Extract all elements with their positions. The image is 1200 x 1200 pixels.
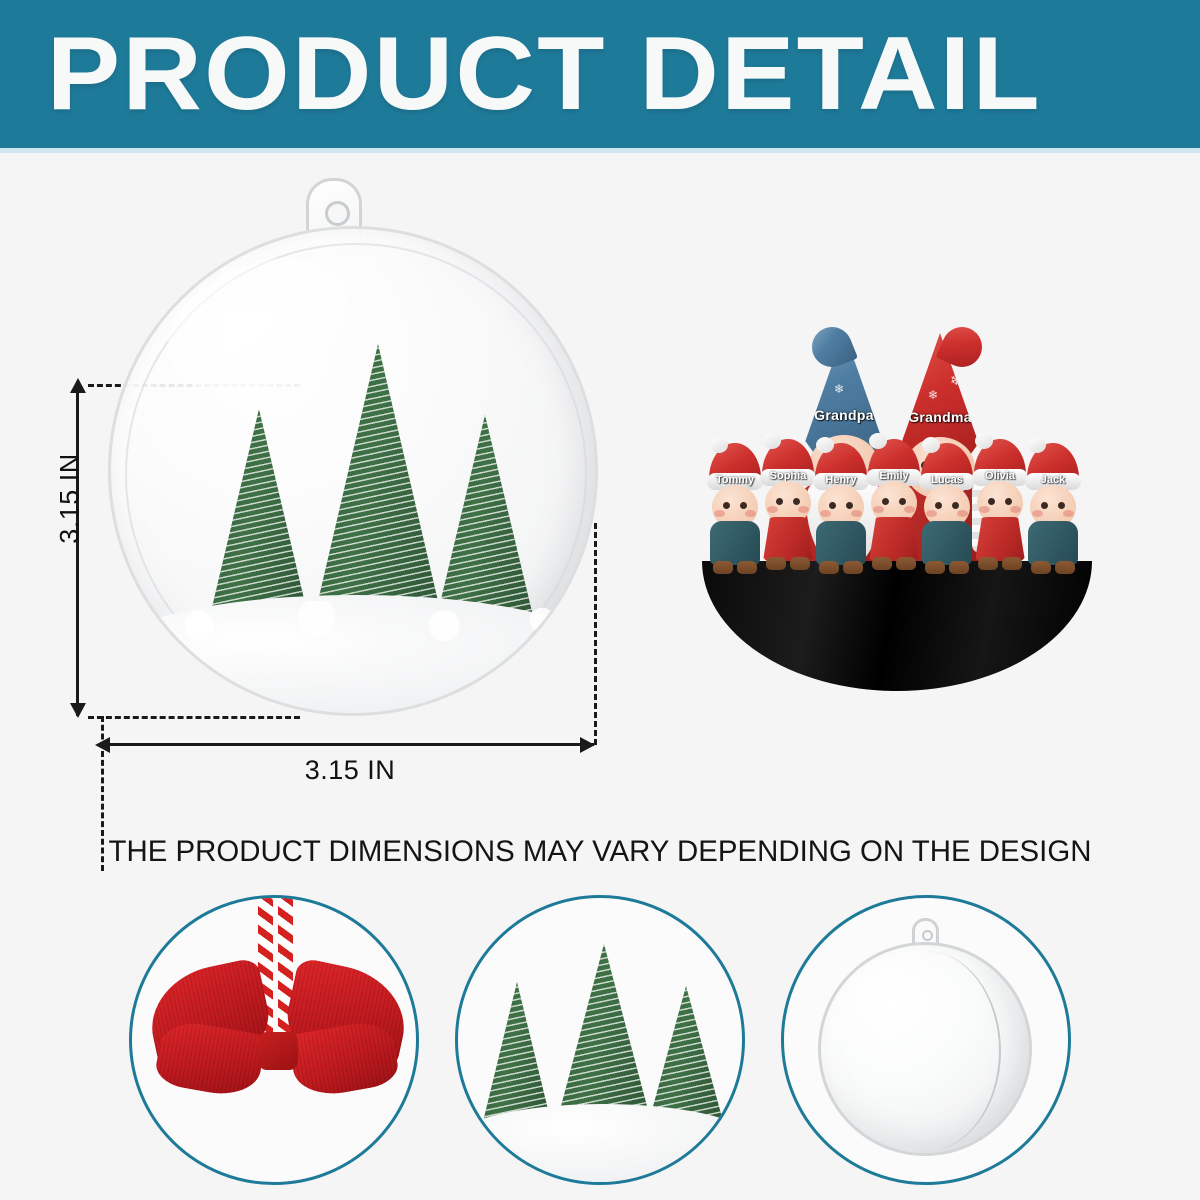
thumbnail-red-ribbon-bow[interactable] <box>129 895 419 1185</box>
gnome-child-shoe <box>737 561 757 574</box>
gnome-child-pompom <box>1028 437 1046 453</box>
gnome-child-pompom <box>922 437 940 453</box>
gnome-child-shoe <box>896 557 916 570</box>
arrow-right-icon <box>580 737 595 753</box>
width-dimension-label: 3.15 IN <box>210 755 490 786</box>
gnome-child-body <box>922 521 972 565</box>
gnome-child-shoe <box>872 557 892 570</box>
gnome-child-shoe <box>1055 561 1075 574</box>
gnome-child-shoe <box>819 561 839 574</box>
snow-layer <box>111 595 598 713</box>
gnome-child-pompom <box>869 433 887 449</box>
gnome-child-pompom <box>763 433 781 449</box>
product-stage: 3.15 IN 3.15 IN <box>0 153 1200 1200</box>
gnome-child-emily: Emily <box>865 439 923 571</box>
arrow-left-icon <box>95 737 110 753</box>
gnome-child-shoe <box>766 557 786 570</box>
gnome-child-pompom <box>816 437 834 453</box>
gnome-child-jack: Jack <box>1024 443 1082 575</box>
gnome-child-shoe <box>843 561 863 574</box>
thumbnail-empty-clear-ball[interactable] <box>781 895 1071 1185</box>
gnome-child-body <box>710 521 760 565</box>
ball-seam-line <box>851 951 1001 1151</box>
gnome-name-grandma: Grandma <box>894 409 986 425</box>
gnome-child-shoe <box>713 561 733 574</box>
hanging-loop-hole <box>325 201 350 226</box>
gnome-child-tommy: Tommy <box>706 443 764 575</box>
glass-sphere <box>108 226 598 716</box>
gnome-child-shoe <box>978 557 998 570</box>
ornament-base <box>702 561 1092 691</box>
gnome-child-olivia: Olivia <box>971 439 1029 571</box>
gnome-child-pompom <box>710 437 728 453</box>
gnome-family-ornament: ❄ ❄ ❄ Grandpa ❄ ❄ ❄ Grandma <box>690 303 1100 703</box>
arrow-down-icon <box>70 703 86 718</box>
gnome-child-body <box>816 521 866 565</box>
thumbnail-snowy-pine-trees[interactable] <box>455 895 745 1185</box>
gnome-child-shoe <box>790 557 810 570</box>
thumbnail-row <box>0 895 1200 1195</box>
gnome-name-grandpa: Grandpa <box>798 407 890 423</box>
gnome-child-shoe <box>925 561 945 574</box>
gnome-child-henry: Henry <box>812 443 870 575</box>
snow-layer <box>455 1104 745 1182</box>
gnome-child-sophia: Sophia <box>759 439 817 571</box>
clear-ball-sphere <box>818 942 1032 1156</box>
gnome-child-lucas: Lucas <box>918 443 976 575</box>
dimension-disclaimer: THE PRODUCT DIMENSIONS MAY VARY DEPENDIN… <box>12 835 1188 869</box>
hanging-loop-hole <box>922 930 933 941</box>
gnome-child-body <box>763 517 813 561</box>
height-dimension-label: 3.15 IN <box>55 419 86 579</box>
gnome-child-shoe <box>1002 557 1022 570</box>
page-header: PRODUCT DETAIL <box>0 0 1200 148</box>
gnome-child-shoe <box>1031 561 1051 574</box>
arrow-up-icon <box>70 378 86 393</box>
gnome-child-pompom <box>975 433 993 449</box>
glass-ball-ornament <box>108 168 598 728</box>
width-dimension-line <box>101 743 594 746</box>
bow-knot <box>258 1032 298 1070</box>
gnome-child-body <box>1028 521 1078 565</box>
gnome-child-shoe <box>949 561 969 574</box>
page-title: PRODUCT DETAIL <box>0 22 1042 126</box>
gnome-child-body <box>869 517 919 561</box>
gnome-child-body <box>975 517 1025 561</box>
